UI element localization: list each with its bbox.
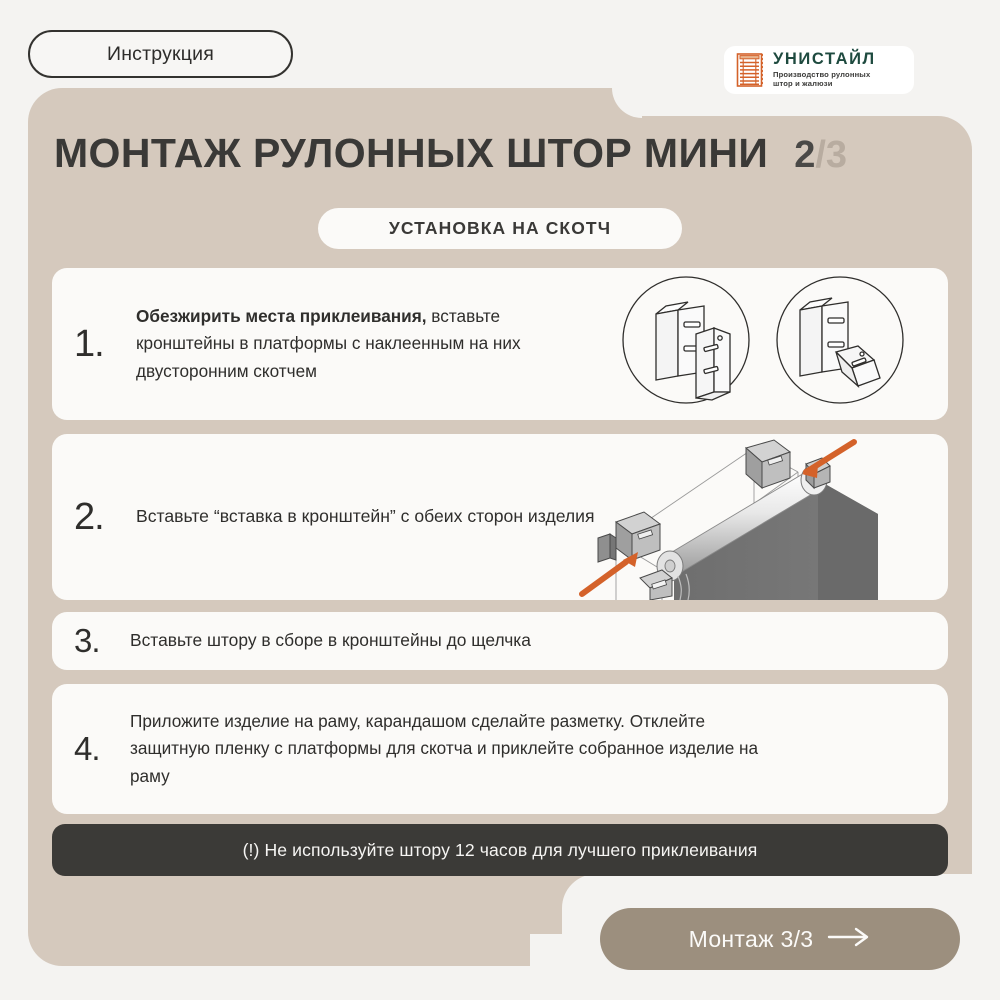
step-text-1: Обезжирить места приклеивания, вставьте … [136,303,556,385]
step-text-1-bold: Обезжирить места приклеивания, [136,306,427,326]
instruction-badge: Инструкция [28,30,293,78]
next-page-button[interactable]: Монтаж 3/3 [600,908,960,970]
warning-text: (!) Не используйте штору 12 часов для лу… [243,840,758,861]
instruction-badge-label: Инструкция [107,43,214,66]
step-text-4: Приложите изделие на раму, карандашом сд… [130,708,770,790]
brand-logo: УНИСТАЙЛ Производство рулонных штор и жа… [724,46,914,94]
roller-blind-illustration [578,434,948,600]
brand-name: УНИСТАЙЛ [773,51,876,68]
step-card-2: 2. Вставьте “вставка в кронштейн” с обеи… [52,434,948,600]
page-title-text: МОНТАЖ РУЛОННЫХ ШТОР МИНИ [54,130,768,177]
step-card-3: 3. Вставьте штору в сборе в кронштейны д… [52,612,948,670]
step-card-4: 4. Приложите изделие на раму, карандашом… [52,684,948,814]
panel-notch-top-right-fillet [612,88,642,118]
section-subtitle-label: УСТАНОВКА НА СКОТЧ [389,218,611,239]
brand-tagline-line2: штор и жалюзи [773,79,833,88]
bracket-platform-illustration [608,268,948,420]
panel-notch-bottom-right-fillet [530,934,562,966]
page-title: МОНТАЖ РУЛОННЫХ ШТОР МИНИ 2/3 [54,130,954,177]
brand-tagline: Производство рулонных штор и жалюзи [773,70,876,89]
step-number-1: 1. [74,323,136,366]
step-number-4: 4. [74,730,130,768]
instruction-slide: Инструкция УНИС [0,0,1000,1000]
page-current: 2 [794,134,815,176]
page-total: /3 [815,134,847,176]
next-page-label: Монтаж 3/3 [689,926,814,953]
step-text-3: Вставьте штору в сборе в кронштейны до щ… [130,627,531,655]
step-number-3: 3. [74,622,130,660]
warning-banner: (!) Не используйте штору 12 часов для лу… [52,824,948,876]
step-card-1: 1. Обезжирить места приклеивания, вставь… [52,268,948,420]
arrow-right-icon [827,927,871,952]
brand-tagline-line1: Производство рулонных [773,70,870,79]
roller-blind-icon [734,52,765,88]
section-subtitle: УСТАНОВКА НА СКОТЧ [318,208,682,249]
step-text-2: Вставьте “вставка в кронштейн” с обеих с… [136,503,595,531]
step-number-2: 2. [74,496,136,539]
page-indicator: 2/3 [794,134,847,177]
